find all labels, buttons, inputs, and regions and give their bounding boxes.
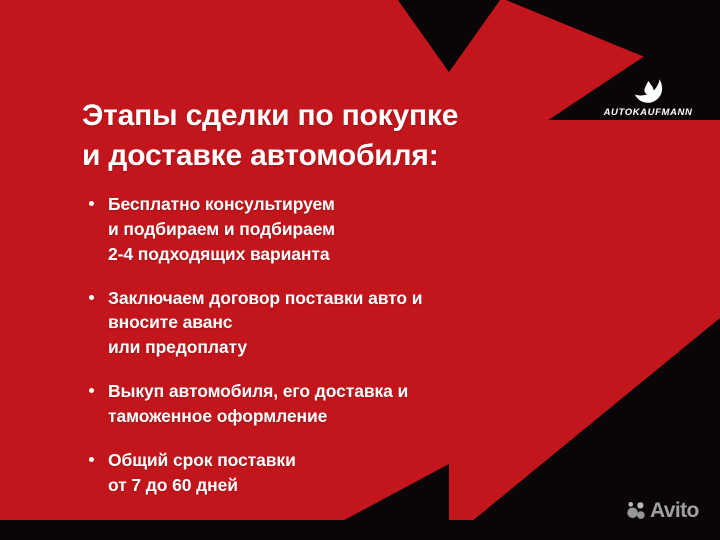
bullet-dot-icon	[89, 388, 94, 393]
bullet-2-line-3: или предоплату	[108, 335, 646, 360]
list-item: Выкуп автомобиля, его доставка и таможен…	[86, 379, 646, 429]
bullet-1-line-3: 2-4 подходящих варианта	[108, 242, 646, 267]
bullet-3-line-2: таможенное оформление	[108, 404, 646, 429]
list-item: Общий срок поставки от 7 до 60 дней	[86, 448, 646, 498]
flame-swoosh-icon	[631, 76, 665, 106]
deal-stages-list: Бесплатно консультируем и подбираем и по…	[86, 192, 646, 497]
avito-watermark: Avito	[626, 500, 699, 521]
page-title: Этапы сделки по покупке и доставке автом…	[82, 96, 602, 176]
bullet-dot-icon	[89, 295, 94, 300]
bullet-dot-icon	[89, 201, 94, 206]
bullet-dot-icon	[89, 457, 94, 462]
bullet-2-line-2: вносите аванс	[108, 310, 646, 335]
title-line-2: и доставке автомобиля:	[82, 136, 602, 176]
logo-wordmark: AUTOKAUFMANN	[596, 107, 700, 118]
list-item: Заключаем договор поставки авто и вносит…	[86, 286, 646, 361]
bullet-1-line-1: Бесплатно консультируем	[108, 192, 646, 217]
bullet-1-line-2: и подбираем и подбираем	[108, 217, 646, 242]
avito-dots-icon	[626, 500, 647, 521]
poster-canvas: Этапы сделки по покупке и доставке автом…	[0, 0, 720, 540]
avito-wordmark: Avito	[650, 500, 699, 521]
bullet-2-line-1: Заключаем договор поставки авто и	[108, 286, 646, 311]
bullet-4-line-1: Общий срок поставки	[108, 448, 646, 473]
poster-content: Этапы сделки по покупке и доставке автом…	[0, 0, 720, 540]
bullet-4-line-2: от 7 до 60 дней	[108, 473, 646, 498]
brand-logo: AUTOKAUFMANN	[596, 76, 700, 118]
bullet-3-line-1: Выкуп автомобиля, его доставка и	[108, 379, 646, 404]
title-line-1: Этапы сделки по покупке	[82, 96, 602, 136]
list-item: Бесплатно консультируем и подбираем и по…	[86, 192, 646, 267]
